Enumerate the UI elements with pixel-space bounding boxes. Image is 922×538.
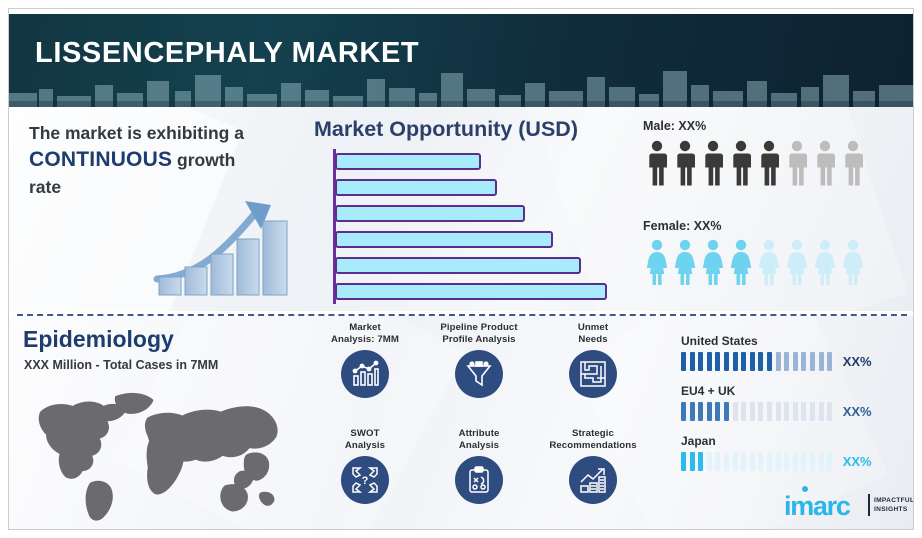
progress-segment [810,352,815,371]
analysis-label-line1: Unmet [537,322,649,334]
analysis-icon-circle[interactable] [455,456,503,504]
progress-segment [827,402,832,421]
progress-segment [784,352,789,371]
analysis-label-line1: SWOT [309,428,421,440]
progress-segment [758,402,763,421]
progress-segment [681,352,686,371]
progress-segment [707,452,712,471]
logo-divider [868,494,870,516]
progress-segment [793,352,798,371]
tagline-block: The market is exhibiting a CONTINUOUS gr… [29,121,287,199]
female-person-icon [643,238,671,286]
tagline-after-emphasis: growth [172,150,235,170]
progress-segment [707,352,712,371]
male-person-icon [727,139,755,187]
male-people-row [643,139,867,187]
chart-bar [335,257,581,274]
logo-wordmark: imarc [784,491,850,522]
upper-section: The market is exhibiting a CONTINUOUS gr… [9,107,914,311]
country-percent: XX% [843,454,872,469]
country-name: Japan [681,434,906,448]
analysis-label-line2: Profile Analysis [423,334,535,346]
market-opportunity-chart [323,149,623,304]
male-person-icon [811,139,839,187]
progress-segment [681,402,686,421]
country-percent: XX% [843,354,872,369]
country-percent: XX% [843,404,872,419]
logo-tagline-line1: IMPACTFUL [874,496,914,505]
analysis-label-line1: Strategic [537,428,649,440]
progress-segment [767,452,772,471]
country-name: United States [681,334,906,348]
female-label: Female: XX% [643,219,722,233]
country-name: EU4 + UK [681,384,906,398]
progress-segment [810,452,815,471]
progress-segment [776,452,781,471]
female-people-row [643,238,867,286]
world-map-icon [23,376,311,526]
analysis-label-line1: Attribute [423,428,535,440]
male-person-icon [643,139,671,187]
country-progress-bar: XX% [681,402,906,421]
chart-bar [335,153,481,170]
progress-segment [724,402,729,421]
analysis-label-line2: Analysis [423,440,535,452]
progress-segment [707,402,712,421]
progress-segment [801,402,806,421]
male-label: Male: XX% [643,119,706,133]
country-block: EU4 + UKXX% [681,384,906,421]
analysis-label-line2: Analysis [309,440,421,452]
chart-bar [335,283,607,300]
progress-segment [801,352,806,371]
maze-icon [578,359,608,389]
progress-segment [776,352,781,371]
tagline-emphasis: CONTINUOUS [29,148,172,171]
clipboard-strategy-icon [464,465,494,495]
chart-bar [335,231,553,248]
analysis-item-unmet-needs[interactable]: Unmet Needs [537,322,649,398]
country-block: United StatesXX% [681,334,906,371]
growth-bar-chart-arrow-icon [149,191,299,299]
growth-chart-icon [578,465,608,495]
female-person-icon [699,238,727,286]
progress-segment [690,352,695,371]
female-person-icon [783,238,811,286]
analysis-label-line2: Recommendations [537,440,649,452]
progress-segment [724,352,729,371]
bar-chart-trend-icon [350,359,380,389]
male-person-icon [755,139,783,187]
swot-arrows-icon: ? [350,465,380,495]
logo-tagline-line2: INSIGHTS [874,505,914,514]
analysis-item-market[interactable]: Market Analysis: 7MM [309,322,421,398]
funnel-icon [464,359,494,389]
female-person-icon [755,238,783,286]
analysis-icon-circle[interactable] [341,350,389,398]
male-person-icon [839,139,867,187]
progress-segment [733,452,738,471]
progress-segment [827,352,832,371]
male-person-icon [671,139,699,187]
market-opportunity-title: Market Opportunity (USD) [314,117,578,142]
analysis-item-attribute[interactable]: Attribute Analysis [423,428,535,504]
progress-segment [767,402,772,421]
progress-segment [741,402,746,421]
header-banner: LISSENCEPHALY MARKET [9,14,914,107]
analysis-icon-circle[interactable] [569,350,617,398]
imarc-logo: imarc IMPACTFUL INSIGHTS [784,486,904,522]
epidemiology-title: Epidemiology [23,326,174,353]
progress-segment [733,402,738,421]
analysis-item-pipeline-product-profile[interactable]: Pipeline Product Profile Analysis [423,322,535,398]
progress-segment [750,402,755,421]
progress-segment [698,352,703,371]
analysis-label-line1: Market [309,322,421,334]
progress-segment [767,352,772,371]
progress-segment [793,452,798,471]
progress-segment [801,452,806,471]
progress-segment [698,452,703,471]
progress-segment [741,352,746,371]
progress-segment [810,402,815,421]
progress-segment [750,452,755,471]
progress-segment [784,452,789,471]
progress-segment [819,352,824,371]
progress-segment [681,452,686,471]
tagline-line2: CONTINUOUS growth [29,145,287,175]
svg-text:?: ? [362,475,369,487]
analysis-icon-circle[interactable] [455,350,503,398]
progress-segment [724,452,729,471]
progress-segment [784,402,789,421]
page-title: LISSENCEPHALY MARKET [35,37,419,70]
female-person-icon [727,238,755,286]
country-block: JapanXX% [681,434,906,471]
progress-segment [733,352,738,371]
progress-segment [819,452,824,471]
analysis-item-strategic-recommendations[interactable]: Strategic Recommendations [537,428,649,504]
progress-segment [741,452,746,471]
analysis-label-line2: Needs [537,334,649,346]
chart-bar [335,205,525,222]
progress-segment [750,352,755,371]
chart-bar [335,179,497,196]
progress-segment [698,402,703,421]
female-person-icon [671,238,699,286]
progress-segment [758,452,763,471]
progress-segment [715,352,720,371]
chart-axis [333,149,336,304]
analysis-label-line1: Pipeline Product [423,322,535,334]
tagline-line1: The market is exhibiting a [29,121,287,145]
lower-section: Epidemiology XXX Million - Total Cases i… [9,316,914,530]
progress-segment [715,402,720,421]
male-person-icon [783,139,811,187]
analysis-icon-grid: Market Analysis: 7MM Pipeline Product Pr… [309,322,649,527]
epidemiology-subtitle: XXX Million - Total Cases in 7MM [24,358,218,372]
country-progress-bar: XX% [681,452,906,471]
country-breakdown: United StatesXX%EU4 + UKXX%JapanXX% [681,334,906,484]
progress-segment [793,402,798,421]
country-progress-bar: XX% [681,352,906,371]
progress-segment [758,352,763,371]
analysis-icon-circle[interactable]: ? [341,456,389,504]
progress-segment [690,452,695,471]
progress-segment [819,402,824,421]
female-person-icon [811,238,839,286]
analysis-label-line2: Analysis: 7MM [309,334,421,346]
progress-segment [690,402,695,421]
analysis-icon-circle[interactable] [569,456,617,504]
male-person-icon [699,139,727,187]
progress-segment [827,452,832,471]
infographic-root: LISSENCEPHALY MARKET The market is exhib… [8,8,914,530]
analysis-item-swot[interactable]: SWOT Analysis ? [309,428,421,504]
progress-segment [776,402,781,421]
progress-segment [715,452,720,471]
female-person-icon [839,238,867,286]
logo-tagline: IMPACTFUL INSIGHTS [874,496,914,514]
